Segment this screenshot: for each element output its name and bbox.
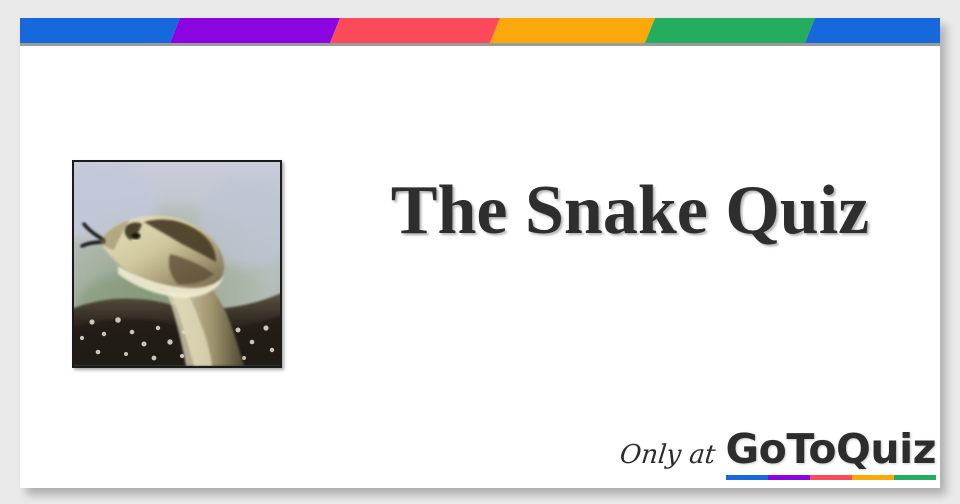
brand-name: GoToQuiz: [726, 429, 936, 470]
ribbon-segment-red: [330, 18, 500, 43]
quiz-header-screenshot: The Snake Quiz Only at GoToQuiz: [0, 0, 960, 504]
ribbon-segment-orange: [490, 18, 655, 43]
brand-color-bar: [726, 475, 936, 480]
ribbon-segment-green: [645, 18, 815, 43]
brand-bar-segment-3: [810, 475, 852, 480]
brand-bar-segment-1: [726, 475, 768, 480]
page-title: The Snake Quiz: [330, 176, 930, 246]
brand-mark: GoToQuiz: [726, 429, 936, 480]
brand-bar-segment-4: [852, 475, 894, 480]
brand-bar-segment-5: [894, 475, 936, 480]
rattlesnake-photo: [74, 162, 280, 366]
ribbon-underline: [20, 43, 940, 46]
ribbon-segment-blue: [20, 18, 180, 43]
top-color-ribbon: [20, 18, 940, 43]
gotoquiz-logo[interactable]: Only at GoToQuiz: [620, 429, 936, 480]
only-at-label: Only at: [619, 440, 717, 470]
brand-bar-segment-2: [768, 475, 810, 480]
quiz-image: [72, 160, 282, 368]
ribbon-segment-purple: [170, 18, 340, 43]
ribbon-segment-blue2: [805, 18, 940, 43]
